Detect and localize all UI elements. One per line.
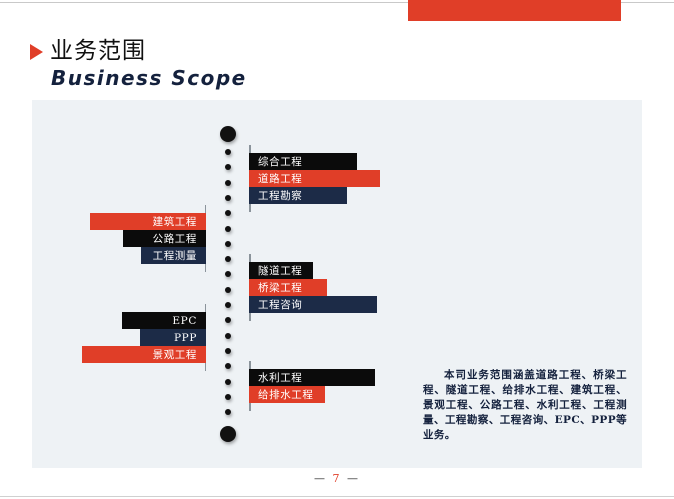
bar-label: 工程测量 [153,248,197,263]
timeline-node [225,333,231,339]
group-right-3: 水利工程给排水工程 [249,361,375,411]
bar-label: 给排水工程 [258,387,314,402]
bar-label: 水利工程 [258,370,302,385]
timeline-node-large-bottom [220,426,236,442]
bar-label: EPC [172,315,197,327]
bar-item[interactable]: 道路工程 [249,170,380,187]
page-suffix: — [347,472,360,485]
bar-item[interactable]: PPP [140,329,206,346]
timeline-node [225,363,231,369]
bottom-divider [0,496,674,497]
bar-label: 道路工程 [258,171,302,186]
timeline-node-large-top [220,126,236,142]
bar-label: PPP [174,332,197,344]
top-accent-block [408,0,621,21]
bar-label: 桥梁工程 [258,280,302,295]
timeline-node [225,394,231,400]
bar-item[interactable]: 综合工程 [249,153,357,170]
bar-label: 建筑工程 [153,214,197,229]
timeline-node [225,287,231,293]
bar-label: 综合工程 [258,154,302,169]
timeline-node [225,317,231,323]
group-right-2: 隧道工程桥梁工程工程咨询 [249,254,377,321]
timeline-node [225,256,231,262]
page-title-cn: 业务范围 [50,40,146,63]
slide-canvas: 业务范围 Business Scope 综合工程道路工程工程勘察建筑工程公路工程… [0,0,674,499]
bar-item[interactable]: 水利工程 [249,369,375,386]
timeline-node [225,164,231,170]
page-number-value: 7 [333,472,342,485]
timeline-node [225,149,231,155]
bar-label: 隧道工程 [258,263,302,278]
timeline-node [225,226,231,232]
timeline-node [225,379,231,385]
bar-label: 公路工程 [153,231,197,246]
group-left-2: EPCPPP景观工程 [82,304,206,371]
bar-item[interactable]: EPC [122,312,206,329]
group-right-1: 综合工程道路工程工程勘察 [249,145,380,212]
page-prefix: — [314,472,327,485]
bar-item[interactable]: 隧道工程 [249,262,313,279]
bar-label: 工程勘察 [258,188,302,203]
bar-item[interactable]: 桥梁工程 [249,279,327,296]
bar-item[interactable]: 建筑工程 [90,213,206,230]
bar-item[interactable]: 公路工程 [123,230,206,247]
bar-label: 工程咨询 [258,297,302,312]
bar-item[interactable]: 工程测量 [141,247,206,264]
bar-item[interactable]: 工程咨询 [249,296,377,313]
page-title-en: Business Scope [51,68,247,88]
timeline-node [225,180,231,186]
timeline-node [225,195,231,201]
page-number: — 7 — [0,472,674,485]
bar-item[interactable]: 工程勘察 [249,187,347,204]
description-text: 本司业务范围涵盖道路工程、桥梁工程、隧道工程、给排水工程、建筑工程、景观工程、公… [423,368,627,443]
bar-item[interactable]: 给排水工程 [249,386,325,403]
bar-label: 景观工程 [153,347,197,362]
timeline-node [225,348,231,354]
triangle-right-icon [30,44,43,60]
timeline-rail [219,126,237,442]
group-left-1: 建筑工程公路工程工程测量 [90,205,206,272]
bar-item[interactable]: 景观工程 [82,346,206,363]
slide-header: 业务范围 Business Scope [30,40,247,88]
timeline-node [225,271,231,277]
timeline-node [225,302,231,308]
timeline-node [225,210,231,216]
timeline-node [225,241,231,247]
timeline-node [225,409,231,415]
